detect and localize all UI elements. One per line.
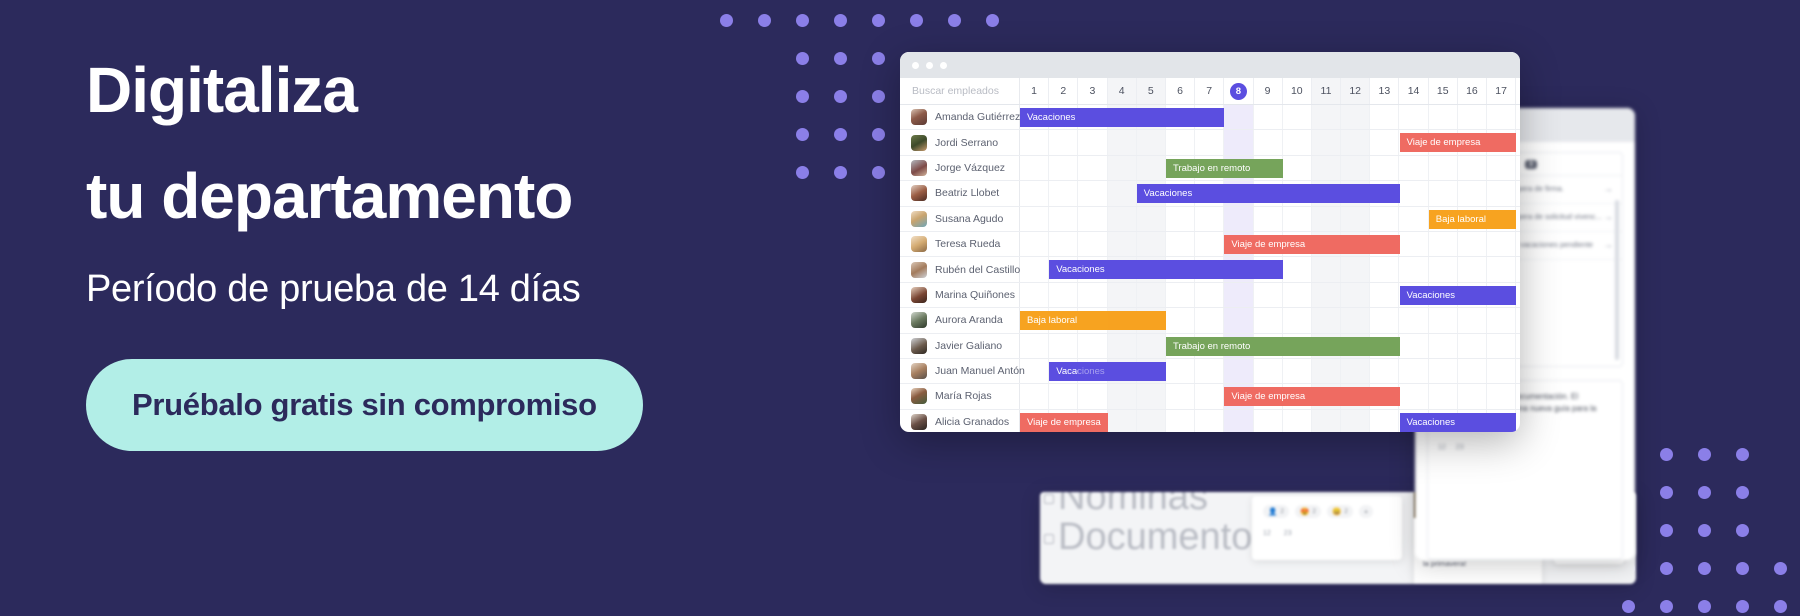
absence-bar-weekend-segment (1312, 337, 1370, 356)
absence-bar-weekend-segment (1108, 311, 1166, 330)
employee-cell[interactable]: Alicia Granados (900, 410, 1020, 432)
folder-icon (1044, 534, 1054, 544)
timeline-cell[interactable] (1078, 207, 1107, 231)
day-header-6[interactable]: 6 (1166, 78, 1195, 104)
decorative-dot (948, 14, 961, 27)
timeline-cell[interactable] (1049, 334, 1078, 358)
timeline-cell[interactable] (1166, 232, 1195, 256)
timeline-cell[interactable] (1020, 130, 1049, 154)
timeline-cell[interactable] (1399, 257, 1428, 281)
avatar-ruben-icon (911, 262, 927, 278)
timeline-cell[interactable] (1341, 283, 1370, 307)
heart-eyes-emoji-icon: 😍 (1300, 507, 1309, 516)
employee-cell[interactable]: Beatriz Llobet (900, 181, 1020, 205)
window-maximize-icon[interactable] (940, 62, 947, 69)
day-header-16[interactable]: 16 (1458, 78, 1487, 104)
avatar-maria-icon (911, 388, 927, 404)
timeline-cell[interactable] (1283, 410, 1312, 432)
decorative-dot (1698, 448, 1711, 461)
timeline-cell[interactable] (1049, 181, 1078, 205)
timeline-cell[interactable] (1108, 384, 1137, 408)
decorative-dot (1660, 600, 1673, 613)
timeline-cell[interactable] (1399, 232, 1428, 256)
avatar-beatriz-icon (911, 185, 927, 201)
timeline-cell[interactable] (1078, 156, 1107, 180)
timeline-cell[interactable] (1370, 257, 1399, 281)
timeline-cell[interactable] (1020, 181, 1049, 205)
timeline-cell[interactable] (1429, 232, 1458, 256)
timeline-cell[interactable] (1458, 257, 1487, 281)
timeline-cell[interactable] (1049, 384, 1078, 408)
day-header-14[interactable]: 14 (1399, 78, 1428, 104)
reaction-chip[interactable]: 😍2 (1295, 505, 1321, 518)
timeline-cell[interactable] (1370, 156, 1399, 180)
timeline-cell[interactable] (1399, 308, 1428, 332)
calendar-body: Amanda GutiérrezVacacionesJordi SerranoV… (900, 105, 1520, 432)
timeline-cell[interactable] (1370, 308, 1399, 332)
timeline-cell[interactable] (1283, 105, 1312, 129)
decorative-dot (1698, 600, 1711, 613)
timeline-cell[interactable] (1049, 156, 1078, 180)
reaction-chip[interactable]: 👤2 (1263, 505, 1289, 518)
timeline-cell[interactable] (1399, 384, 1428, 408)
calendar-row: Beatriz LlobetVacaciones (900, 181, 1520, 206)
dashboard-nav-list: Nóminas Documentos (1058, 492, 1271, 558)
timeline-cell[interactable] (1195, 384, 1224, 408)
timeline-cell[interactable] (1458, 359, 1487, 383)
timeline-cell[interactable] (1312, 283, 1341, 307)
timeline-cell[interactable] (1370, 105, 1399, 129)
view-count: 23 (1284, 530, 1292, 537)
timeline-cell[interactable] (1312, 308, 1341, 332)
timeline-cell[interactable] (1341, 257, 1370, 281)
timeline-cell[interactable] (1108, 410, 1137, 432)
employee-timeline: Vacaciones (1020, 105, 1520, 129)
day-header-3[interactable]: 3 (1078, 78, 1107, 104)
day-header-2[interactable]: 2 (1049, 78, 1078, 104)
timeline-cell[interactable] (1254, 207, 1283, 231)
timeline-cell[interactable] (1166, 410, 1195, 432)
plus-icon: + (1364, 507, 1368, 516)
timeline-cell[interactable] (1487, 308, 1516, 332)
timeline-cell[interactable] (1078, 384, 1107, 408)
day-header-7[interactable]: 7 (1195, 78, 1224, 104)
decorative-dot (1736, 486, 1749, 499)
calendar-row: Jorge VázquezTrabajo en remoto (900, 156, 1520, 181)
decorative-dot (872, 90, 885, 103)
absence-bar-viaje[interactable]: Viaje de empresa (1400, 133, 1517, 152)
absence-bar-weekend-segment (1078, 362, 1136, 381)
timeline-cell[interactable] (1195, 130, 1224, 154)
decorative-dot (720, 14, 733, 27)
day-header-10[interactable]: 10 (1283, 78, 1312, 104)
timeline-cell[interactable] (1429, 334, 1458, 358)
timeline-cell[interactable] (1078, 283, 1107, 307)
decorative-dot (1660, 562, 1673, 575)
timeline-cell[interactable] (1429, 384, 1458, 408)
employee-timeline: Vacaciones (1020, 257, 1520, 281)
decorative-dot (1622, 600, 1635, 613)
calendar-row: Teresa RuedaViaje de empresa (900, 232, 1520, 257)
timeline-cell[interactable] (1108, 130, 1137, 154)
avatar-teresa-icon (911, 236, 927, 252)
timeline-cell[interactable] (1370, 283, 1399, 307)
timeline-cell[interactable] (1312, 156, 1341, 180)
timeline-cell[interactable] (1137, 156, 1166, 180)
day-header-track: 1234567891011121314151617 (1020, 78, 1520, 104)
timeline-cell[interactable] (1108, 334, 1137, 358)
employee-timeline: Baja laboral (1020, 207, 1520, 231)
absence-bar-vacaciones[interactable]: Vacaciones (1049, 260, 1283, 279)
employee-name: Teresa Rueda (935, 238, 1000, 250)
reactions-card: 👤2 😍2 😄2 + 12 23 (1252, 496, 1402, 560)
timeline-cell[interactable] (1137, 384, 1166, 408)
timeline-cell[interactable] (1429, 257, 1458, 281)
decorative-dot (872, 166, 885, 179)
absence-bar-weekend-segment (1312, 235, 1370, 254)
timeline-cell[interactable] (1283, 130, 1312, 154)
calendar-row: Rubén del CastilloVacaciones (900, 257, 1520, 282)
decorative-dot (1736, 524, 1749, 537)
day-header-8[interactable]: 8 (1224, 78, 1253, 104)
absence-bar-remoto[interactable]: Trabajo en remoto (1166, 159, 1283, 178)
timeline-cell[interactable] (1312, 359, 1341, 383)
employee-cell[interactable]: Juan Manuel Antón (900, 359, 1020, 383)
timeline-cell[interactable] (1458, 334, 1487, 358)
timeline-cell[interactable] (1224, 410, 1253, 432)
timeline-cell[interactable] (1137, 283, 1166, 307)
decorative-dot (1698, 486, 1711, 499)
timeline-cell[interactable] (1224, 207, 1253, 231)
timeline-cell[interactable] (1458, 232, 1487, 256)
timeline-cell[interactable] (1487, 232, 1516, 256)
timeline-cell[interactable] (1341, 130, 1370, 154)
decorative-dot (1660, 448, 1673, 461)
employee-name: Beatriz Llobet (935, 187, 999, 199)
employee-timeline: Vacaciones (1020, 359, 1520, 383)
timeline-cell[interactable] (1078, 334, 1107, 358)
promo-banner: Solicitudes Pendientes 3 Solicitud Recie… (0, 0, 1800, 616)
employee-timeline: Trabajo en remoto (1020, 334, 1520, 358)
employee-name: Javier Galiano (935, 340, 1002, 352)
timeline-cell[interactable] (1254, 130, 1283, 154)
timeline-cell[interactable] (1487, 359, 1516, 383)
calendar-header-row: Buscar empleados 12345678910111213141516… (900, 78, 1520, 105)
timeline-cell[interactable] (1195, 207, 1224, 231)
calendar-row: Marina QuiñonesVacaciones (900, 283, 1520, 308)
decorative-dot (758, 14, 771, 27)
timeline-cell[interactable] (1312, 410, 1341, 432)
decorative-dot (910, 14, 923, 27)
timeline-cell[interactable] (1370, 410, 1399, 432)
timeline-cell[interactable] (1020, 384, 1049, 408)
reaction-stats: 12 23 (1263, 530, 1391, 537)
timeline-cell[interactable] (1020, 257, 1049, 281)
timeline-cell[interactable] (1078, 181, 1107, 205)
timeline-cell[interactable] (1370, 359, 1399, 383)
decorative-dot (1774, 562, 1787, 575)
timeline-cell[interactable] (1399, 105, 1428, 129)
timeline-cell[interactable] (1487, 384, 1516, 408)
timeline-cell[interactable] (1487, 105, 1516, 129)
copy-icon (1044, 494, 1054, 504)
timeline-cell[interactable] (1399, 207, 1428, 231)
employee-timeline: Viaje de empresaVacaciones (1020, 410, 1520, 432)
timeline-cell[interactable] (1049, 283, 1078, 307)
day-header-5[interactable]: 5 (1137, 78, 1166, 104)
timeline-cell[interactable] (1049, 232, 1078, 256)
timeline-cell[interactable] (1283, 359, 1312, 383)
announcement-view-count: 23 (1456, 444, 1464, 451)
timeline-cell[interactable] (1078, 130, 1107, 154)
timeline-cell[interactable] (1224, 359, 1253, 383)
timeline-cell[interactable] (1166, 384, 1195, 408)
calendar-grid: Buscar empleados 12345678910111213141516… (900, 78, 1520, 432)
timeline-cell[interactable] (1254, 308, 1283, 332)
avatar-marina-icon (911, 287, 927, 303)
employee-timeline: Trabajo en remoto (1020, 156, 1520, 180)
timeline-cell[interactable] (1487, 156, 1516, 180)
employee-cell[interactable]: Jordi Serrano (900, 130, 1020, 154)
employee-name: Susana Agudo (935, 213, 1003, 225)
timeline-cell[interactable] (1020, 207, 1049, 231)
arrow-right-icon: → (1603, 240, 1613, 251)
timeline-cell[interactable] (1312, 207, 1341, 231)
timeline-cell[interactable] (1429, 181, 1458, 205)
calendar-row: Alicia GranadosViaje de empresaVacacione… (900, 410, 1520, 432)
day-header-13[interactable]: 13 (1370, 78, 1399, 104)
timeline-cell[interactable] (1370, 130, 1399, 154)
day-header-9[interactable]: 9 (1254, 78, 1283, 104)
timeline-cell[interactable] (1166, 308, 1195, 332)
decorative-dot (872, 128, 885, 141)
timeline-cell[interactable] (1195, 359, 1224, 383)
employee-cell[interactable]: Amanda Gutiérrez (900, 105, 1020, 129)
timeline-cell[interactable] (1137, 334, 1166, 358)
decorative-dot (1698, 562, 1711, 575)
window-close-icon[interactable] (912, 62, 919, 69)
employee-name: Amanda Gutiérrez (935, 111, 1020, 123)
avatar-jordi-icon (911, 135, 927, 151)
timeline-cell[interactable] (1487, 257, 1516, 281)
day-header-11[interactable]: 11 (1312, 78, 1341, 104)
window-minimize-icon[interactable] (926, 62, 933, 69)
absence-bar-viaje[interactable]: Viaje de empresa (1020, 413, 1108, 432)
avatar-amanda-icon (911, 109, 927, 125)
timeline-cell[interactable] (1341, 308, 1370, 332)
timeline-cell[interactable] (1224, 283, 1253, 307)
employee-cell[interactable]: Jorge Vázquez (900, 156, 1020, 180)
decorative-dot (1736, 448, 1749, 461)
reaction-chip[interactable]: 😄2 (1327, 505, 1353, 518)
person-emoji-icon: 👤 (1268, 507, 1277, 516)
absence-bar-baja[interactable]: Baja laboral (1429, 210, 1517, 229)
timeline-cell[interactable] (1341, 410, 1370, 432)
employee-timeline: Vacaciones (1020, 283, 1520, 307)
timeline-cell[interactable] (1487, 181, 1516, 205)
decorative-dot (986, 14, 999, 27)
employee-timeline: Viaje de empresa (1020, 232, 1520, 256)
calendar-row: Juan Manuel AntónVacaciones (900, 359, 1520, 384)
absence-bar-weekend-segment (1108, 108, 1166, 127)
avatar-javier-icon (911, 338, 927, 354)
headline-line-2: tu departamento (86, 164, 846, 228)
employee-cell[interactable]: Aurora Aranda (900, 308, 1020, 332)
timeline-cell[interactable] (1429, 105, 1458, 129)
day-header-12[interactable]: 12 (1341, 78, 1370, 104)
timeline-cell[interactable] (1341, 359, 1370, 383)
timeline-cell[interactable] (1020, 283, 1049, 307)
dashboard-nav-payroll[interactable]: Nóminas (1058, 492, 1271, 518)
timeline-cell[interactable] (1312, 130, 1341, 154)
timeline-cell[interactable] (1137, 410, 1166, 432)
timeline-cell[interactable] (1458, 105, 1487, 129)
calendar-row: Javier GalianoTrabajo en remoto (900, 334, 1520, 359)
day-header-15[interactable]: 15 (1429, 78, 1458, 104)
timeline-cell[interactable] (1137, 232, 1166, 256)
timeline-cell[interactable] (1195, 232, 1224, 256)
calendar-row: María RojasViaje de empresa (900, 384, 1520, 409)
timeline-cell[interactable] (1283, 308, 1312, 332)
timeline-cell[interactable] (1166, 207, 1195, 231)
timeline-cell[interactable] (1137, 207, 1166, 231)
employee-timeline: Vacaciones (1020, 181, 1520, 205)
timeline-cell[interactable] (1341, 207, 1370, 231)
timeline-cell[interactable] (1458, 384, 1487, 408)
employee-calendar-window: Buscar empleados 12345678910111213141516… (900, 52, 1520, 432)
timeline-cell[interactable] (1429, 308, 1458, 332)
timeline-cell[interactable] (1458, 156, 1487, 180)
promo-copy: Digitaliza tu departamento Período de pr… (86, 58, 846, 451)
timeline-cell[interactable] (1341, 105, 1370, 129)
timeline-cell[interactable] (1399, 334, 1428, 358)
employee-cell[interactable]: Susana Agudo (900, 207, 1020, 231)
timeline-cell[interactable] (1108, 232, 1137, 256)
timeline-cell[interactable] (1312, 257, 1341, 281)
timeline-cell[interactable] (1020, 156, 1049, 180)
arrow-right-icon: → (1603, 184, 1613, 195)
pending-requests-badge: 3 (1525, 160, 1537, 169)
reaction-chips: 👤2 😍2 😄2 + (1263, 505, 1391, 518)
timeline-cell[interactable] (1283, 283, 1312, 307)
timeline-cell[interactable] (1254, 410, 1283, 432)
absence-bar-weekend-segment (1458, 413, 1516, 432)
comment-count: 12 (1263, 530, 1271, 537)
timeline-cell[interactable] (1108, 181, 1137, 205)
employee-name: Jordi Serrano (935, 137, 998, 149)
timeline-cell[interactable] (1166, 283, 1195, 307)
timeline-cell[interactable] (1195, 410, 1224, 432)
timeline-cell[interactable] (1224, 105, 1253, 129)
avatar-susana-icon (911, 211, 927, 227)
day-header-1[interactable]: 1 (1020, 78, 1049, 104)
smile-emoji-icon: 😄 (1332, 507, 1341, 516)
timeline-cell[interactable] (1108, 207, 1137, 231)
employee-name: Aurora Aranda (935, 314, 1003, 326)
day-header-17[interactable]: 17 (1487, 78, 1516, 104)
timeline-cell[interactable] (1020, 359, 1049, 383)
timeline-cell[interactable] (1166, 359, 1195, 383)
timeline-cell[interactable] (1137, 130, 1166, 154)
employee-name: Rubén del Castillo (935, 264, 1020, 276)
timeline-cell[interactable] (1283, 257, 1312, 281)
timeline-cell[interactable] (1020, 232, 1049, 256)
calendar-row: Amanda GutiérrezVacaciones (900, 105, 1520, 130)
subheadline: Período de prueba de 14 días (86, 268, 846, 311)
timeline-cell[interactable] (1049, 207, 1078, 231)
timeline-cell[interactable] (1108, 156, 1137, 180)
timeline-cell[interactable] (1254, 283, 1283, 307)
timeline-cell[interactable] (1341, 156, 1370, 180)
decorative-dot (1774, 600, 1787, 613)
employee-name: Marina Quiñones (935, 289, 1015, 301)
timeline-cell[interactable] (1195, 283, 1224, 307)
timeline-cell[interactable] (1254, 105, 1283, 129)
absence-bar-vacaciones[interactable]: Vacaciones (1400, 286, 1517, 305)
decorative-dot (1698, 524, 1711, 537)
timeline-cell[interactable] (1224, 130, 1253, 154)
timeline-cell[interactable] (1166, 130, 1195, 154)
announcement-meta: 12 23 (1428, 438, 1622, 457)
reaction-count: 2 (1280, 508, 1284, 515)
timeline-cell[interactable] (1224, 308, 1253, 332)
timeline-cell[interactable] (1370, 207, 1399, 231)
employee-name: Jorge Vázquez (935, 162, 1005, 174)
timeline-cell[interactable] (1195, 308, 1224, 332)
decorative-dot (1736, 600, 1749, 613)
employee-cell[interactable]: Marina Quiñones (900, 283, 1020, 307)
timeline-cell[interactable] (1399, 359, 1428, 383)
employee-name: Alicia Granados (935, 416, 1009, 428)
timeline-cell[interactable] (1020, 334, 1049, 358)
timeline-cell[interactable] (1458, 308, 1487, 332)
dashboard-nav-documents[interactable]: Documentos (1058, 518, 1271, 558)
search-input[interactable]: Buscar empleados (900, 78, 1020, 104)
employee-cell[interactable]: María Rojas (900, 384, 1020, 408)
avatar-juan-icon (911, 363, 927, 379)
timeline-cell[interactable] (1108, 283, 1137, 307)
add-reaction-button[interactable]: + (1359, 505, 1373, 518)
absence-bar-weekend-segment (1312, 184, 1370, 203)
timeline-cell[interactable] (1254, 359, 1283, 383)
timeline-cell[interactable] (1312, 105, 1341, 129)
timeline-cell[interactable] (1399, 181, 1428, 205)
employee-cell[interactable]: Teresa Rueda (900, 232, 1020, 256)
employee-cell[interactable]: Rubén del Castillo (900, 257, 1020, 281)
decorative-dot (1660, 486, 1673, 499)
decorative-dot (872, 52, 885, 65)
calendar-row: Jordi SerranoViaje de empresa (900, 130, 1520, 155)
pending-requests-scrollbar[interactable] (1615, 200, 1619, 360)
timeline-cell[interactable] (1429, 156, 1458, 180)
timeline-cell[interactable] (1283, 156, 1312, 180)
timeline-cell[interactable] (1283, 207, 1312, 231)
timeline-cell[interactable] (1078, 232, 1107, 256)
decorative-dot (1736, 562, 1749, 575)
cta-trial-button[interactable]: Pruébalo gratis sin compromiso (86, 359, 643, 451)
employee-cell[interactable]: Javier Galiano (900, 334, 1020, 358)
employee-timeline: Baja laboral (1020, 308, 1520, 332)
calendar-row: Aurora ArandaBaja laboral (900, 308, 1520, 333)
timeline-cell[interactable] (1487, 334, 1516, 358)
timeline-cell[interactable] (1049, 130, 1078, 154)
timeline-cell[interactable] (1399, 156, 1428, 180)
day-header-4[interactable]: 4 (1108, 78, 1137, 104)
decorative-dot (834, 14, 847, 27)
timeline-cell[interactable] (1458, 181, 1487, 205)
employee-timeline: Viaje de empresa (1020, 130, 1520, 154)
timeline-cell[interactable] (1429, 359, 1458, 383)
